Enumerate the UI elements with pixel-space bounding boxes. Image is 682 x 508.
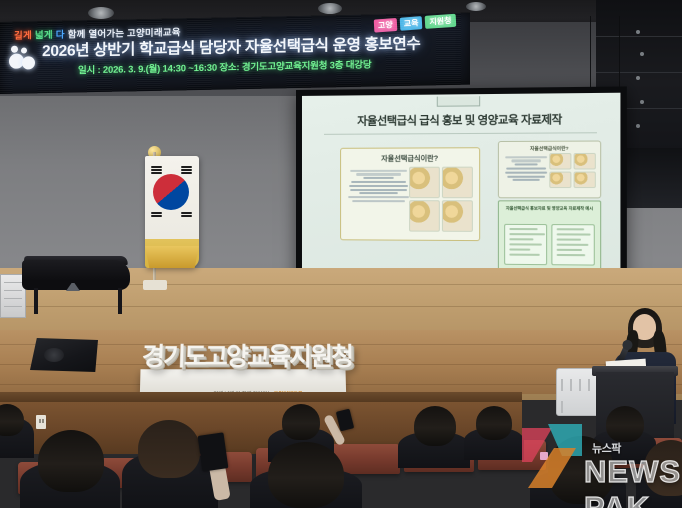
- mascot-icon: [8, 45, 40, 74]
- led-badge-1: 고양: [374, 18, 397, 33]
- attendee-head: [38, 430, 104, 492]
- slide-bottom-card: 자율선택급식 홍보자료 및 영양교육 자료제작 예시: [498, 200, 601, 270]
- slide-left-card-text: [347, 168, 410, 204]
- stage-sign-letters: 경기도고양교육지원청: [141, 337, 348, 373]
- led-slogan-word-4: 함께 열어가는 고양미래교육: [68, 24, 181, 40]
- slide-bottom-card-columns: [504, 224, 595, 266]
- led-banner: 길게 넓게 다 함께 열어가는 고양미래교육 고양 교육 지원청 2026년 상…: [0, 13, 470, 94]
- led-slogan-word-2: 넓게: [35, 27, 53, 41]
- auditorium-photo: 길게 넓게 다 함께 열어가는 고양미래교육 고양 교육 지원청 2026년 상…: [0, 0, 682, 508]
- piano-leg: [34, 288, 38, 314]
- slide-right-card: 자율선택급식이란?: [498, 140, 601, 198]
- piano-leg: [118, 288, 122, 314]
- food-photo: [442, 167, 473, 199]
- ceiling-light: [466, 2, 486, 11]
- projected-slide: 자율선택급식 급식 홍보 및 영양교육 자료제작 자율선택급식이란?: [302, 93, 620, 280]
- food-photo: [574, 153, 596, 170]
- attendee-head: [414, 406, 456, 446]
- slide-title: 자율선택급식 급식 홍보 및 영양교육 자료제작: [302, 110, 620, 129]
- food-photo: [442, 200, 473, 232]
- led-banner-title: 2026년 상반기 학교급식 담당자 자율선택급식 운영 홍보연수: [42, 31, 442, 61]
- newspak-logo-icon: [518, 422, 586, 492]
- slide-bottom-card-title: 자율선택급식 홍보자료 및 영양교육 자료제작 예시: [503, 205, 596, 211]
- slide-divider: [324, 132, 597, 135]
- led-badge-2: 교육: [400, 16, 423, 31]
- led-corner-badges: 고양 교육 지원청: [374, 14, 456, 33]
- taeguk-symbol: [153, 174, 189, 210]
- led-slogan-word-1: 길게: [14, 27, 32, 41]
- attendee-head: [476, 406, 512, 440]
- ceiling-light: [318, 3, 342, 14]
- slide-left-card-title: 자율선택급식이란?: [341, 153, 479, 164]
- watermark-english: NEWS PAK: [584, 454, 682, 508]
- stage-monitor-speaker: [30, 338, 98, 372]
- wall-outlet: [36, 415, 46, 429]
- led-slogan-word-3: 다: [56, 27, 65, 41]
- smartphone-icon: [198, 432, 229, 471]
- screen-clip: [437, 96, 480, 107]
- food-photo: [574, 172, 596, 189]
- flag-fringe: [145, 246, 199, 268]
- food-photo: [409, 167, 440, 199]
- led-badge-3: 지원청: [426, 14, 457, 29]
- ceiling-light: [88, 7, 114, 19]
- food-photo: [549, 153, 571, 170]
- watermark: 뉴스팍 NEWS PAK: [516, 418, 682, 504]
- slide-right-card-title: 자율선택급식이란?: [499, 146, 600, 153]
- attendee-head: [138, 420, 200, 478]
- slide-left-card: 자율선택급식이란?: [340, 147, 480, 241]
- led-slogan: 길게 넓게 다 함께 열어가는 고양미래교육: [14, 24, 181, 41]
- worksheet-panel: [551, 224, 594, 266]
- projection-screen: 자율선택급식 급식 홍보 및 영양교육 자료제작 자율선택급식이란?: [296, 86, 627, 285]
- food-photo: [549, 172, 571, 188]
- led-banner-subtitle: 일시 : 2026. 3. 9.(월) 14:30 ~16:30 장소: 경기도…: [78, 55, 458, 77]
- slide-right-food-photos: [549, 153, 596, 188]
- attendee-head: [282, 404, 320, 440]
- attendee-head: [268, 442, 344, 508]
- slide-left-food-photos: [409, 167, 473, 232]
- slide-right-card-text: [503, 154, 549, 183]
- korean-flag-icon: [145, 156, 199, 268]
- flag-stand: [143, 280, 167, 290]
- acoustic-panel-lower: [622, 148, 682, 208]
- worksheet-panel: [504, 224, 547, 265]
- food-photo: [409, 200, 440, 232]
